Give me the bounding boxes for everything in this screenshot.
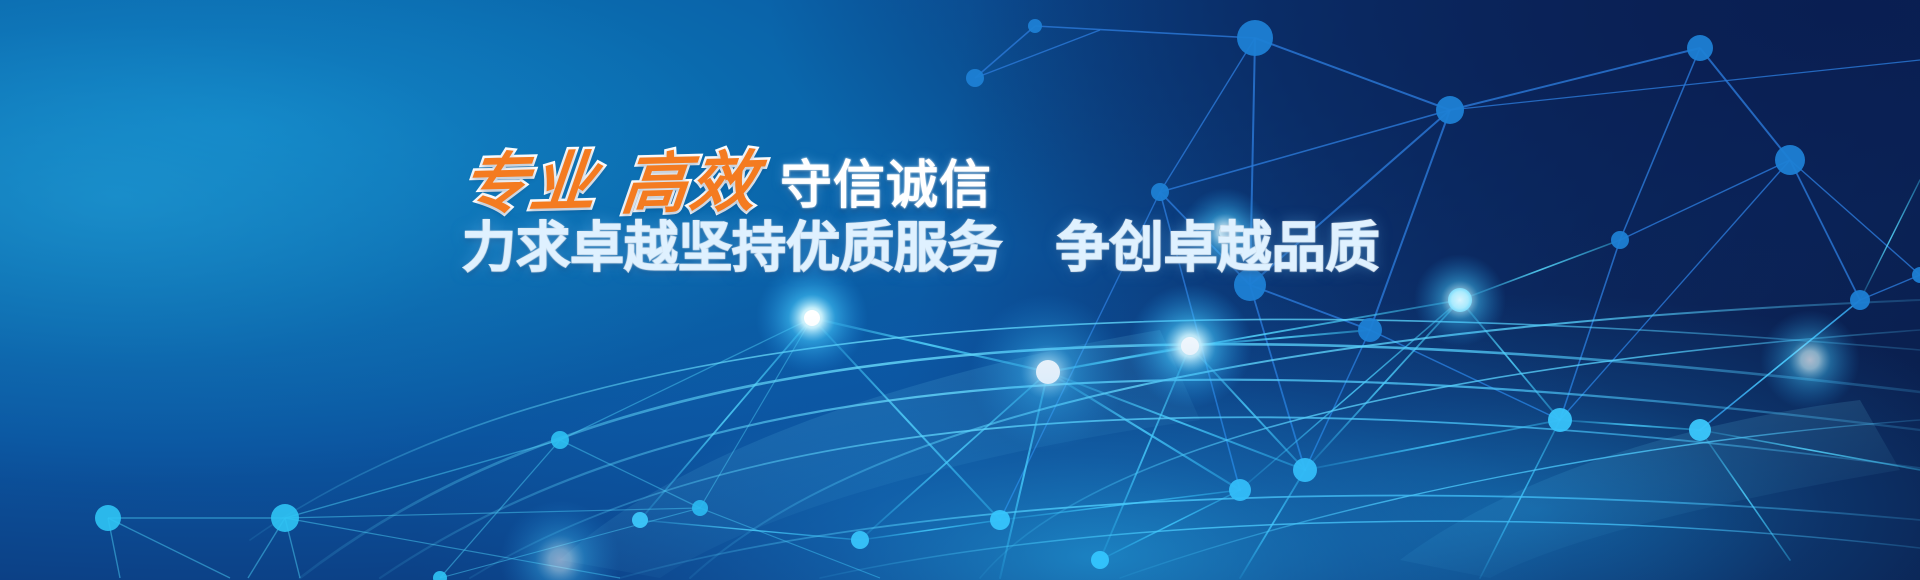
headline-tagline: 守信诚信 — [780, 158, 992, 214]
headline-line2-part-1: 力求卓越坚持优质服务 — [462, 216, 1002, 279]
hero-banner: 专业 高效 守信诚信 力求卓越坚持优质服务 争创卓越品质 — [0, 0, 1920, 580]
headline-line-2: 力求卓越坚持优质服务 争创卓越品质 — [462, 216, 1182, 280]
headline-keyword-2: 高效 — [618, 146, 761, 219]
headline-keyword-1: 专业 — [458, 146, 601, 219]
background-bottom-glow — [0, 0, 1920, 580]
headline-line2-part-2: 争创卓越品质 — [1056, 216, 1380, 279]
headline-line-1: 专业 高效 守信诚信 — [462, 140, 1182, 218]
banner-headline: 专业 高效 守信诚信 力求卓越坚持优质服务 争创卓越品质 — [462, 140, 1182, 280]
